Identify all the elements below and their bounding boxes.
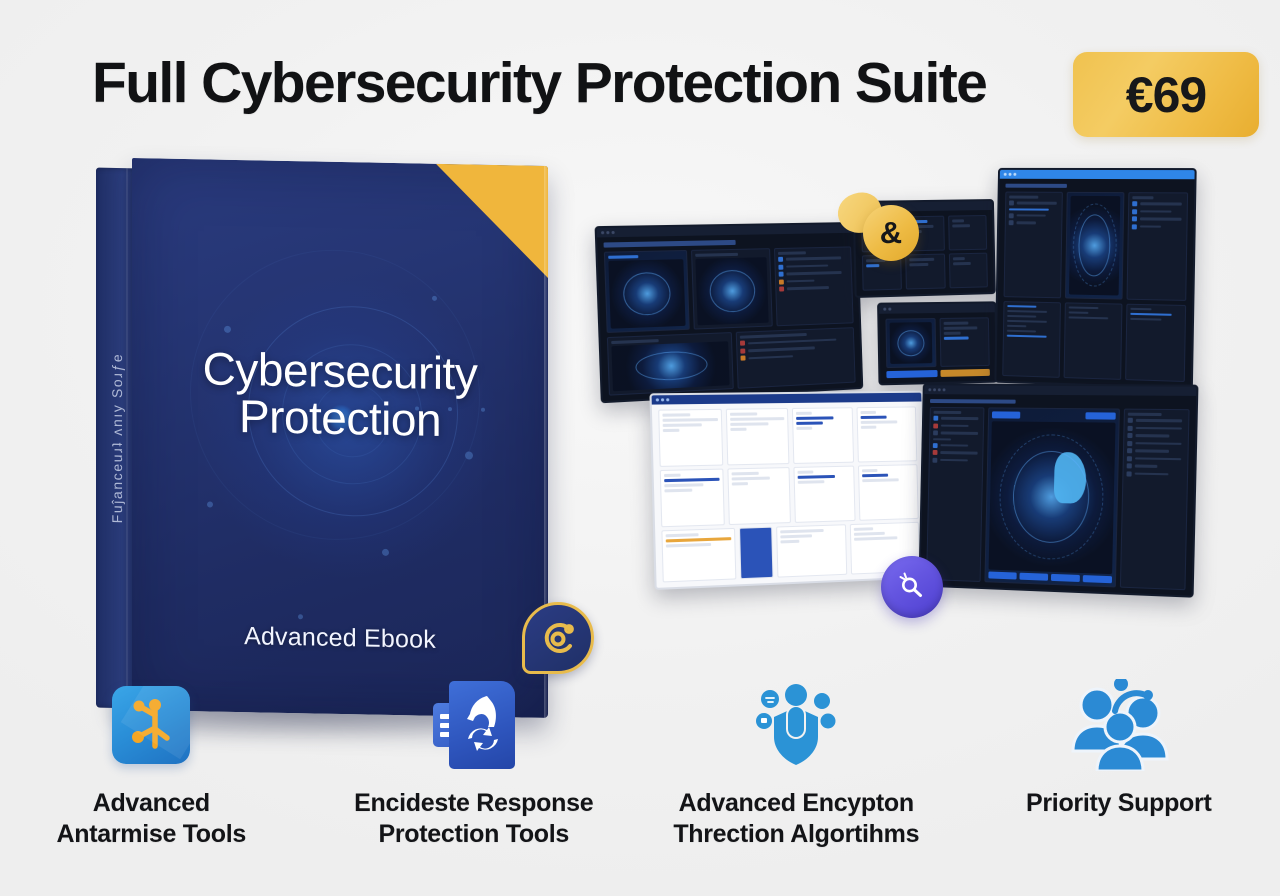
radar-action-2[interactable]: [1019, 573, 1048, 581]
scan-alert-button[interactable]: [940, 369, 990, 377]
report-card-1: [658, 409, 723, 467]
ampersand-badge-label: &: [880, 215, 902, 251]
policy-card: [1063, 302, 1123, 380]
dashboard-heading: [604, 240, 736, 248]
feature-label: Encideste Response Protection Tools: [354, 788, 593, 849]
cover-title: Cybersecurity Protection: [132, 344, 548, 446]
feature-label-line-2: Protection Tools: [354, 819, 593, 850]
document-shield-icon: [433, 681, 515, 769]
feed-card-f: [949, 253, 988, 289]
network-globe-card: [1065, 192, 1125, 299]
report-card-5: [660, 469, 725, 528]
scan-orb-card: [885, 318, 936, 368]
magnifier-icon: [897, 572, 927, 602]
shield-user-network-icon: [744, 679, 848, 771]
detail-card: [776, 525, 848, 578]
feature-label-line-2: Antarmise Tools: [56, 819, 246, 850]
feature-label: Priority Support: [1026, 788, 1211, 819]
radar-filter-button[interactable]: [991, 411, 1020, 418]
event-log-card: [1127, 192, 1188, 301]
host-table-card: [1002, 301, 1060, 378]
knight-and-sync-glyph: [457, 692, 507, 758]
alerts-card: [774, 246, 853, 326]
cover-title-line-2: Protection: [132, 391, 548, 446]
feature-list: Advanced Antarmise Tools: [0, 668, 1280, 888]
branching-tree-glyph: [127, 698, 175, 752]
spine-divider: [126, 168, 128, 708]
scan-action-button[interactable]: [886, 370, 937, 378]
feature-label-line-1: Advanced: [56, 788, 246, 819]
threat-visual-card: [604, 250, 690, 333]
radar-action-3[interactable]: [1051, 574, 1080, 582]
radar-visualization: [984, 407, 1120, 587]
analytics-card: [691, 248, 773, 330]
report-card-6: [727, 467, 791, 525]
screen-global-threat-map-dashboard[interactable]: [994, 168, 1196, 390]
document-sheet: [449, 681, 515, 769]
price-value: €69: [1126, 66, 1206, 124]
dashboard-heading: [1005, 184, 1066, 188]
book-cover: Cybersecurity Protection Advanced Ebook: [132, 158, 548, 718]
feature-label-line-1: Priority Support: [1026, 788, 1211, 819]
radar-export-button[interactable]: [1085, 412, 1115, 419]
feature-encideste-response-protection-tools[interactable]: Encideste Response Protection Tools: [313, 668, 636, 888]
ebook-mockup: Fuĵanceuɹʇ ʌnıy Soɹƒe: [96, 162, 556, 722]
promo-banner: Full Cybersecurity Protection Suite €69 …: [0, 0, 1280, 896]
people-group-icon: [1059, 679, 1179, 771]
report-card-3: [792, 407, 854, 464]
dashboard-heading: [930, 399, 1016, 404]
feature-label: Advanced Encypton Threction Algortihms: [673, 788, 919, 849]
feature-label-line-2: Threction Algortihms: [673, 819, 919, 850]
feed-card-e: [906, 254, 946, 290]
radar-sidebar-list: [926, 407, 984, 582]
feature-priority-support[interactable]: Priority Support: [958, 668, 1280, 888]
feature-label-line-1: Encideste Response: [354, 788, 593, 819]
report-card-4: [857, 406, 918, 462]
branching-tree-icon: [112, 686, 190, 764]
feed-card-c: [948, 215, 987, 251]
report-card-8: [858, 464, 919, 521]
price-badge[interactable]: €69: [1073, 52, 1259, 137]
asset-list-card: [1004, 192, 1063, 298]
cover-corner-accent: [436, 164, 548, 278]
page-title: Full Cybersecurity Protection Suite: [92, 50, 986, 116]
screen-security-operations-dashboard[interactable]: [595, 222, 864, 403]
target-badge-bubble: [522, 602, 594, 674]
book-spine-text: Fuĵanceuɹʇ ʌnıy Soɹƒe: [109, 353, 125, 524]
feature-icon-wrap: [433, 672, 515, 778]
radar-action-4[interactable]: [1082, 575, 1111, 583]
screen-network-scan-panel[interactable]: [877, 301, 998, 385]
incident-log-card: [736, 328, 856, 389]
screen-compliance-report-dashboard[interactable]: [649, 391, 927, 590]
screen-radar-analytics-dashboard[interactable]: [918, 383, 1198, 597]
target-badge[interactable]: [522, 602, 594, 674]
feature-advanced-encypton-algorithms[interactable]: Advanced Encypton Threction Algortihms: [635, 668, 958, 888]
radar-results-list: [1120, 409, 1190, 591]
feature-label-line-1: Advanced Encypton: [673, 788, 919, 819]
radar-action-1[interactable]: [988, 571, 1016, 579]
ampersand-badge[interactable]: &: [863, 205, 919, 261]
feature-icon-wrap: [112, 672, 190, 778]
highlight-card: [739, 527, 774, 579]
feature-advanced-antarmise-tools[interactable]: Advanced Antarmise Tools: [0, 668, 313, 888]
report-card-2: [726, 408, 790, 466]
report-card-7: [793, 466, 855, 524]
feature-icon-wrap: [1059, 672, 1179, 778]
target-icon: [538, 618, 578, 658]
feature-icon-wrap: [744, 672, 848, 778]
feature-label: Advanced Antarmise Tools: [56, 788, 246, 849]
severity-card: [1125, 303, 1186, 382]
scan-details-card: [940, 317, 990, 367]
summary-card: [661, 528, 736, 582]
timeline-card: [607, 332, 734, 395]
magnifier-badge[interactable]: [881, 556, 943, 618]
